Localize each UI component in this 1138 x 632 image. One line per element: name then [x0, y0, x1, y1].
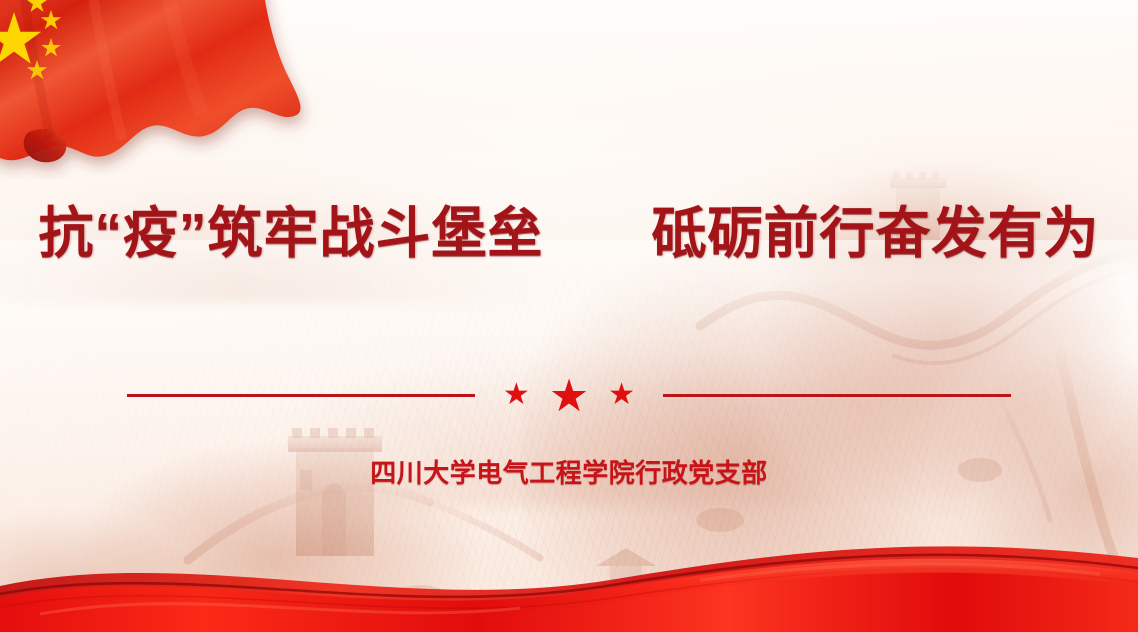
divider-rule-right — [663, 394, 1011, 397]
red-ribbon-decoration — [0, 528, 1138, 632]
divider-rule-left — [127, 394, 475, 397]
china-flag-icon — [0, 0, 346, 180]
star-icon-left: ★ — [503, 380, 530, 410]
divider-row: ★ ★ ★ — [0, 380, 1138, 410]
star-icon-center: ★ — [549, 373, 589, 418]
headline-right: 砥砺前行奋发有为 — [652, 206, 1100, 261]
subtitle-organization: 四川大学电气工程学院行政党支部 — [0, 453, 1138, 490]
star-icon-right: ★ — [608, 380, 635, 410]
presentation-slide: 抗“疫”筑牢战斗堡垒 砥砺前行奋发有为 ★ ★ ★ 四川大学电气工程学院行政党支… — [0, 0, 1138, 632]
headline: 抗“疫”筑牢战斗堡垒 砥砺前行奋发有为 — [0, 206, 1138, 261]
star-group: ★ ★ ★ — [503, 373, 635, 418]
headline-left: 抗“疫”筑牢战斗堡垒 — [38, 206, 543, 261]
